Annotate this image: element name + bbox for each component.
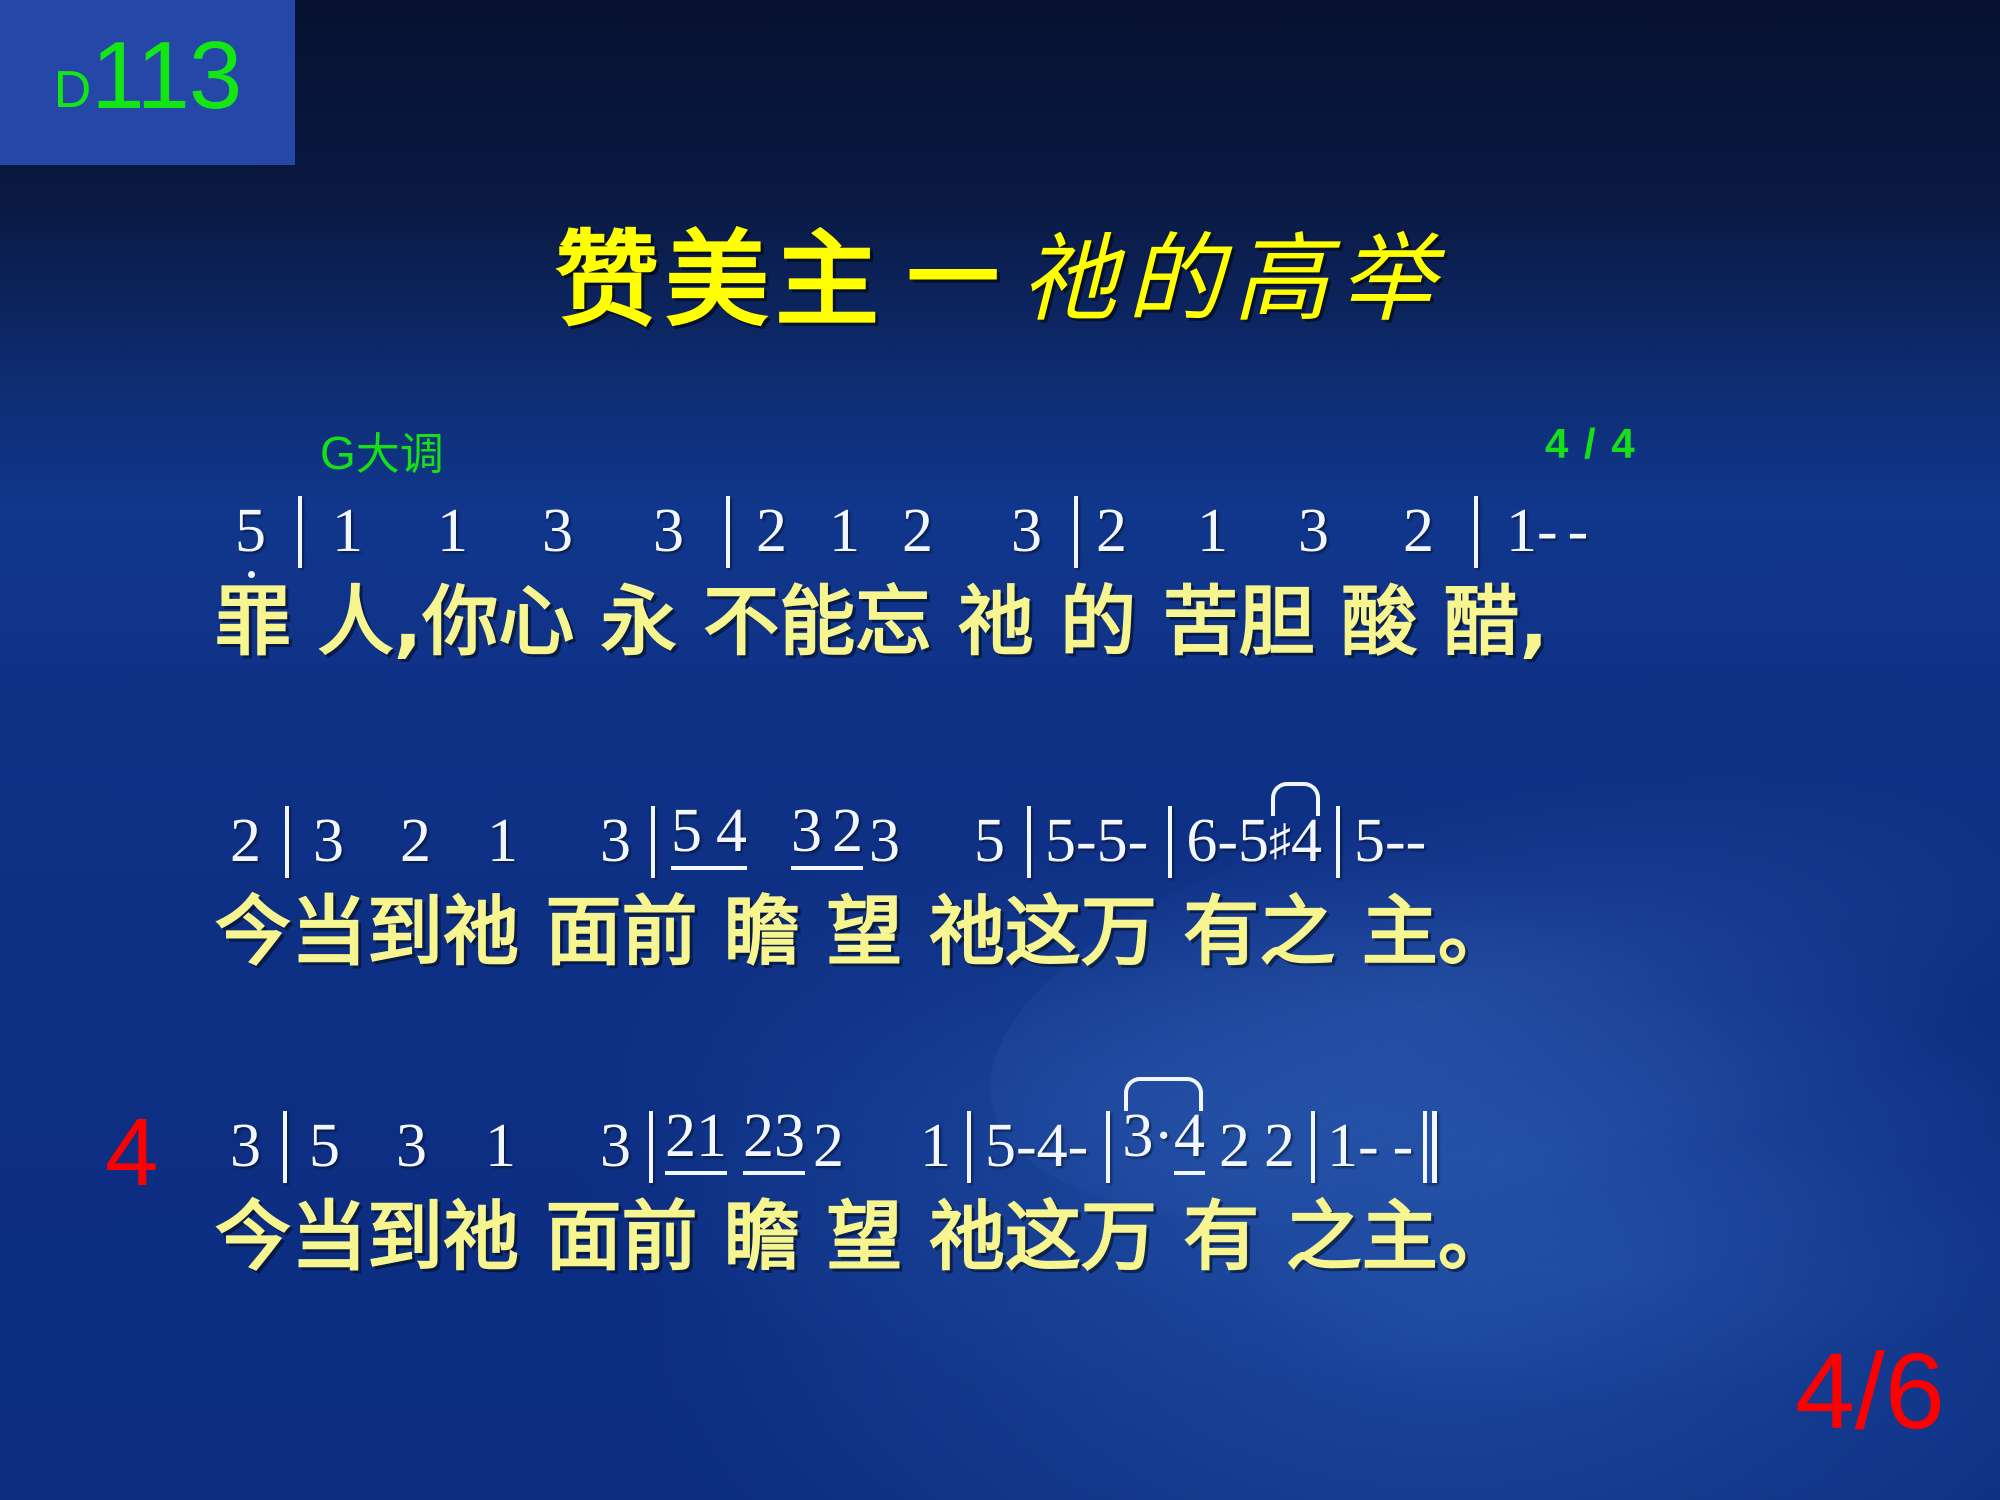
note: 1 — [1327, 1115, 1358, 1177]
note: 1 — [829, 500, 860, 562]
title-subtitle-text: 祂的高举 — [1021, 223, 1445, 335]
note: 4 — [1174, 1105, 1205, 1167]
slur-group: 3·4 — [1122, 1075, 1205, 1177]
note: 3 — [869, 810, 900, 872]
note: 3 — [313, 810, 344, 872]
barline — [1168, 806, 1172, 878]
beamed-note-group: 4 — [1174, 1105, 1205, 1177]
notation-line-2: 2 3 2 1 3 54 32 3 5 5 - 5 - — [0, 780, 2000, 872]
note: 4 — [1037, 1115, 1068, 1177]
note: 1 — [437, 500, 468, 562]
hymn-number: 113 — [91, 28, 241, 124]
note: 5 — [1045, 810, 1076, 872]
note: 3 — [774, 1105, 805, 1167]
note: 4 — [1291, 810, 1322, 872]
lyrics-line-1: 罪 人,你心 永 不能忘 祂 的 苦胆 酸 醋, — [0, 584, 2000, 660]
note: 5 — [309, 1115, 340, 1177]
key-signature-letter: G — [320, 427, 356, 479]
note: 3 — [542, 500, 573, 562]
note: 3 — [396, 1115, 427, 1177]
barline — [1106, 1111, 1110, 1183]
music-system-2: 2 3 2 1 3 54 32 3 5 5 - 5 - — [0, 780, 2000, 970]
note: 5 — [974, 810, 1005, 872]
barline — [726, 496, 730, 568]
barline — [1027, 806, 1031, 878]
note: 2 — [1219, 1115, 1250, 1177]
note: 1 — [1197, 500, 1228, 562]
barline — [298, 496, 302, 568]
note: 1 — [487, 810, 518, 872]
beamed-note-group: 32 — [791, 800, 863, 872]
note: 1 — [696, 1105, 727, 1167]
barline — [1474, 496, 1478, 568]
note: 5 — [1097, 810, 1128, 872]
note: 2 — [230, 810, 261, 872]
beamed-note-group: 54 — [671, 800, 747, 872]
note: 3 — [1298, 500, 1329, 562]
note: 4 — [716, 800, 747, 862]
note: 2 — [1096, 500, 1127, 562]
title-separator-dash: 一 — [907, 225, 999, 332]
note-dash: - — [1406, 810, 1427, 872]
note-dash: - — [1128, 810, 1149, 872]
hymn-number-badge: D 113 — [0, 0, 295, 165]
note: 2 — [756, 500, 787, 562]
note: 2 — [1264, 1115, 1295, 1177]
barline — [1311, 1111, 1315, 1183]
note: 2 — [743, 1105, 774, 1167]
note: 1 — [1506, 500, 1537, 562]
slur-group: ♯4 — [1269, 780, 1322, 872]
note: 1 — [332, 500, 363, 562]
note: 5 — [985, 1115, 1016, 1177]
note: 5 — [235, 500, 266, 562]
note: 3 — [230, 1115, 261, 1177]
hymn-book-letter: D — [54, 64, 92, 116]
music-system-3: 3 5 3 1 3 21 23 2 1 5 - 4 - — [0, 1075, 2000, 1275]
augmentation-dot: · — [1153, 1105, 1174, 1167]
note: 2 — [1403, 500, 1434, 562]
note: 1 — [485, 1115, 516, 1177]
barline — [1074, 496, 1078, 568]
beamed-note-group: 21 — [665, 1105, 727, 1177]
note: 3 — [791, 800, 822, 862]
note: 5 — [1354, 810, 1385, 872]
note: 2 — [665, 1105, 696, 1167]
lyrics-line-2: 今当到祂 面前 瞻 望 祂这万 有之 主。 — [0, 894, 2000, 970]
note-dash: - — [1568, 500, 1589, 562]
note: 5 — [1238, 810, 1269, 872]
note-dash: - — [1217, 810, 1238, 872]
barline — [283, 1111, 287, 1183]
note-dash: - — [1076, 810, 1097, 872]
note-dash: - — [1537, 500, 1558, 562]
note-dash: - — [1385, 810, 1406, 872]
note-dash: - — [1393, 1115, 1414, 1177]
time-signature: 4 / 4 — [1545, 420, 1637, 468]
key-signature: G大调 — [320, 418, 444, 482]
beamed-note-group: 23 — [743, 1105, 805, 1177]
note: 6 — [1186, 810, 1217, 872]
note: 2 — [400, 810, 431, 872]
barline — [967, 1111, 971, 1183]
lyrics-line-3: 今当到祂 面前 瞻 望 祂这万 有 之主。 — [0, 1199, 2000, 1275]
page-title: 赞美主 一 祂的高举 — [0, 195, 2000, 346]
note: 3 — [1011, 500, 1042, 562]
barline — [285, 806, 289, 878]
note-dash: - — [1016, 1115, 1037, 1177]
note: 3 — [600, 810, 631, 872]
page-counter: 4/6 — [1795, 1337, 1945, 1445]
note: 3 — [653, 500, 684, 562]
notation-line-1: 5 1 1 3 3 2 1 2 3 2 1 3 2 1 — [0, 490, 2000, 562]
barline — [1336, 806, 1340, 878]
note: 1 — [920, 1115, 951, 1177]
key-signature-scale: 大调 — [356, 429, 444, 480]
note-dash: - — [1068, 1115, 1089, 1177]
barline — [649, 1111, 653, 1183]
note: 3 — [1122, 1105, 1153, 1167]
barline — [651, 806, 655, 878]
note: 5 — [671, 800, 702, 862]
note: 2 — [832, 800, 863, 862]
final-barline — [1423, 1111, 1437, 1183]
note: 2 — [813, 1115, 844, 1177]
note: 2 — [902, 500, 933, 562]
note: 3 — [600, 1115, 631, 1177]
sharp-accidental: ♯ — [1269, 816, 1291, 865]
slide-canvas: D 113 赞美主 一 祂的高举 G大调 4 / 4 5 1 1 3 3 2 1… — [0, 0, 2000, 1500]
music-system-1: 5 1 1 3 3 2 1 2 3 2 1 3 2 1 — [0, 490, 2000, 660]
notation-line-3: 3 5 3 1 3 21 23 2 1 5 - 4 - — [0, 1075, 2000, 1177]
title-main-text: 赞美主 — [555, 219, 885, 341]
note-dash: - — [1358, 1115, 1379, 1177]
